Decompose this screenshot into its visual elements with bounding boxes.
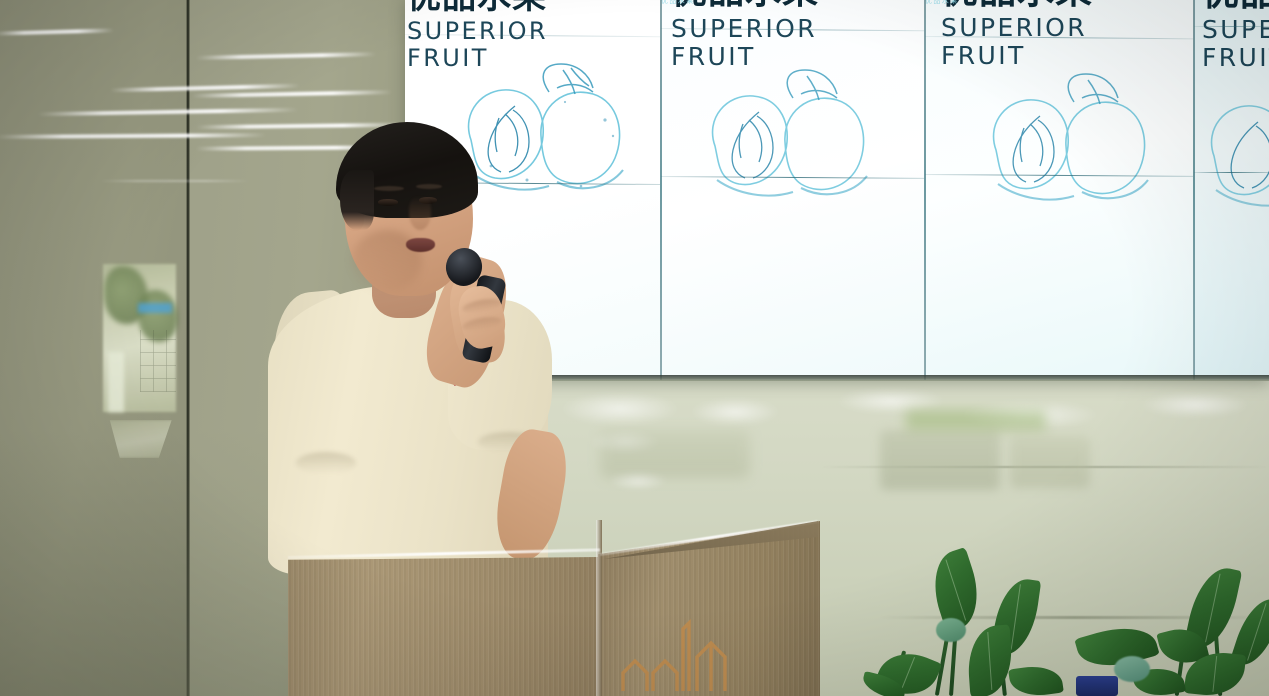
eyebrow-left	[374, 186, 404, 191]
sleeve-hem-right	[296, 452, 356, 474]
display-panel-3: 优品水果 SUPERIOR FRUIT	[925, 0, 1193, 380]
panel-seam-2	[924, 0, 926, 380]
podium-grain-left	[288, 557, 600, 696]
glass-reflection-9	[100, 180, 250, 182]
wall-gloss-6	[1140, 392, 1250, 418]
background-furniture-3	[600, 430, 750, 478]
plant2-bud	[1114, 656, 1150, 682]
eye-left	[378, 199, 398, 206]
panel3-caption: 优品水果	[925, 0, 1193, 6]
blue-object	[1076, 676, 1118, 696]
panel-seam-1	[660, 0, 662, 380]
podium-front-left-face	[288, 557, 600, 696]
panel3-en-line2: FRUIT	[941, 42, 1093, 70]
panel-seam-3	[1193, 0, 1195, 380]
fruit-illustration-1	[453, 62, 653, 222]
panel1-en-line1: SUPERIOR	[407, 18, 548, 45]
panel4-en-line2: FRUIT	[1202, 44, 1269, 72]
panel1-cn-title: 优品水果	[407, 0, 548, 14]
fruit-illustration-3	[973, 72, 1183, 232]
reflected-blue-sign	[138, 303, 172, 313]
display-panel-4: 优品水果 SUPERIOR FRUIT	[1194, 0, 1269, 380]
podium-logo	[619, 617, 759, 691]
nose	[409, 196, 431, 230]
glass-lower-shade	[0, 430, 190, 696]
fruit-illustration-4	[1200, 80, 1269, 230]
mouth	[406, 238, 435, 252]
display-panel-2: 优品水果 SUPERIOR FRUIT	[661, 0, 924, 380]
panel2-caption: 优品水果	[661, 0, 924, 6]
wall-gloss-2	[690, 398, 780, 426]
panel4-en-line1: SUPERIOR	[1202, 16, 1269, 44]
eyebrow-right	[416, 184, 442, 189]
reflected-pillar	[108, 352, 124, 412]
panel4-cn-title: 优品水果	[1202, 0, 1269, 11]
display-hline-4	[1194, 172, 1269, 173]
hair-sideburn	[340, 170, 374, 230]
presentation-photo: 优品水果 SUPERIOR FRUIT	[0, 0, 1269, 696]
panel2-en-line2: FRUIT	[671, 43, 819, 71]
display-hline-top-4	[1194, 26, 1269, 27]
fruit-illustration-2	[697, 68, 897, 228]
background-furniture-1	[880, 430, 1000, 490]
reflected-window-grid	[140, 330, 176, 392]
plant-bud	[936, 618, 966, 642]
wall-gloss-1	[560, 392, 680, 426]
background-greenery	[906, 410, 1046, 430]
background-furniture-2	[1010, 436, 1090, 488]
